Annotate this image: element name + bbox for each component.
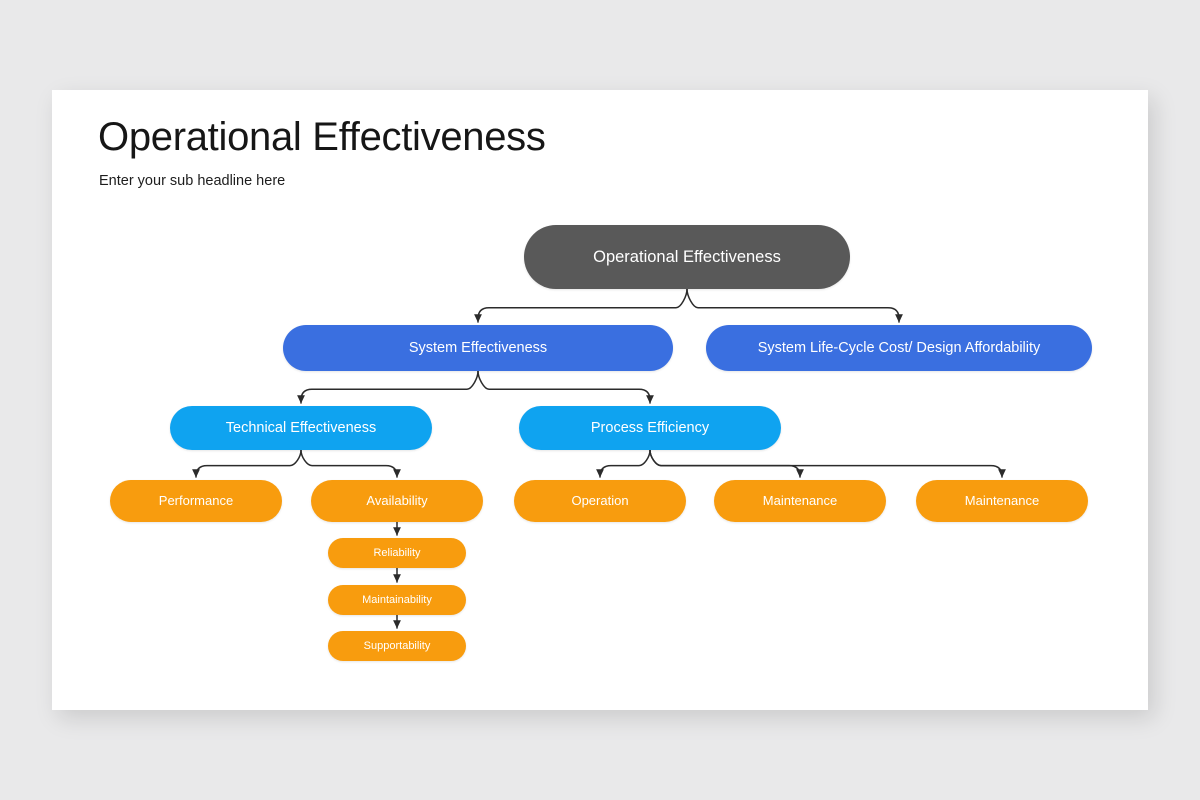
node-label: Maintenance (763, 494, 837, 509)
node-label: Performance (159, 494, 233, 509)
node-label: Reliability (373, 547, 420, 560)
node-lcc[interactable]: System Life-Cycle Cost/ Design Affordabi… (706, 325, 1092, 371)
node-sys-eff[interactable]: System Effectiveness (283, 325, 673, 371)
slide-card: Operational Effectiveness Enter your sub… (52, 90, 1148, 710)
edge-tech-eff-to-availability (301, 450, 397, 477)
screenshot-canvas: Operational Effectiveness Enter your sub… (0, 0, 1200, 800)
node-label: System Life-Cycle Cost/ Design Affordabi… (758, 340, 1041, 357)
edge-tech-eff-to-performance (196, 450, 301, 477)
node-proc-eff[interactable]: Process Efficiency (519, 406, 781, 450)
edge-sys-eff-to-tech-eff (301, 371, 478, 403)
node-performance[interactable]: Performance (110, 480, 282, 522)
node-supportability[interactable]: Supportability (328, 631, 466, 661)
node-tech-eff[interactable]: Technical Effectiveness (170, 406, 432, 450)
node-availability[interactable]: Availability (311, 480, 483, 522)
edge-root-to-lcc (687, 289, 899, 322)
node-label: Technical Effectiveness (226, 420, 376, 437)
node-label: Process Efficiency (591, 420, 709, 437)
hierarchy-diagram: Operational EffectivenessSystem Effectiv… (52, 90, 1148, 710)
node-label: Availability (366, 494, 427, 509)
node-label: Operational Effectiveness (593, 248, 781, 267)
node-label: Operation (571, 494, 628, 509)
edge-proc-eff-to-maintenance-1 (650, 450, 800, 477)
node-operation[interactable]: Operation (514, 480, 686, 522)
node-label: System Effectiveness (409, 340, 547, 357)
edge-root-to-sys-eff (478, 289, 687, 322)
node-reliability[interactable]: Reliability (328, 538, 466, 568)
connector-layer (52, 90, 1148, 710)
node-root[interactable]: Operational Effectiveness (524, 225, 850, 289)
node-maintenance-1[interactable]: Maintenance (714, 480, 886, 522)
edge-proc-eff-to-maintenance-2 (650, 450, 1002, 477)
node-maintainability[interactable]: Maintainability (328, 585, 466, 615)
node-label: Supportability (364, 640, 431, 653)
node-maintenance-2[interactable]: Maintenance (916, 480, 1088, 522)
edge-proc-eff-to-operation (600, 450, 650, 477)
edge-sys-eff-to-proc-eff (478, 371, 650, 403)
node-label: Maintenance (965, 494, 1039, 509)
node-label: Maintainability (362, 594, 432, 607)
